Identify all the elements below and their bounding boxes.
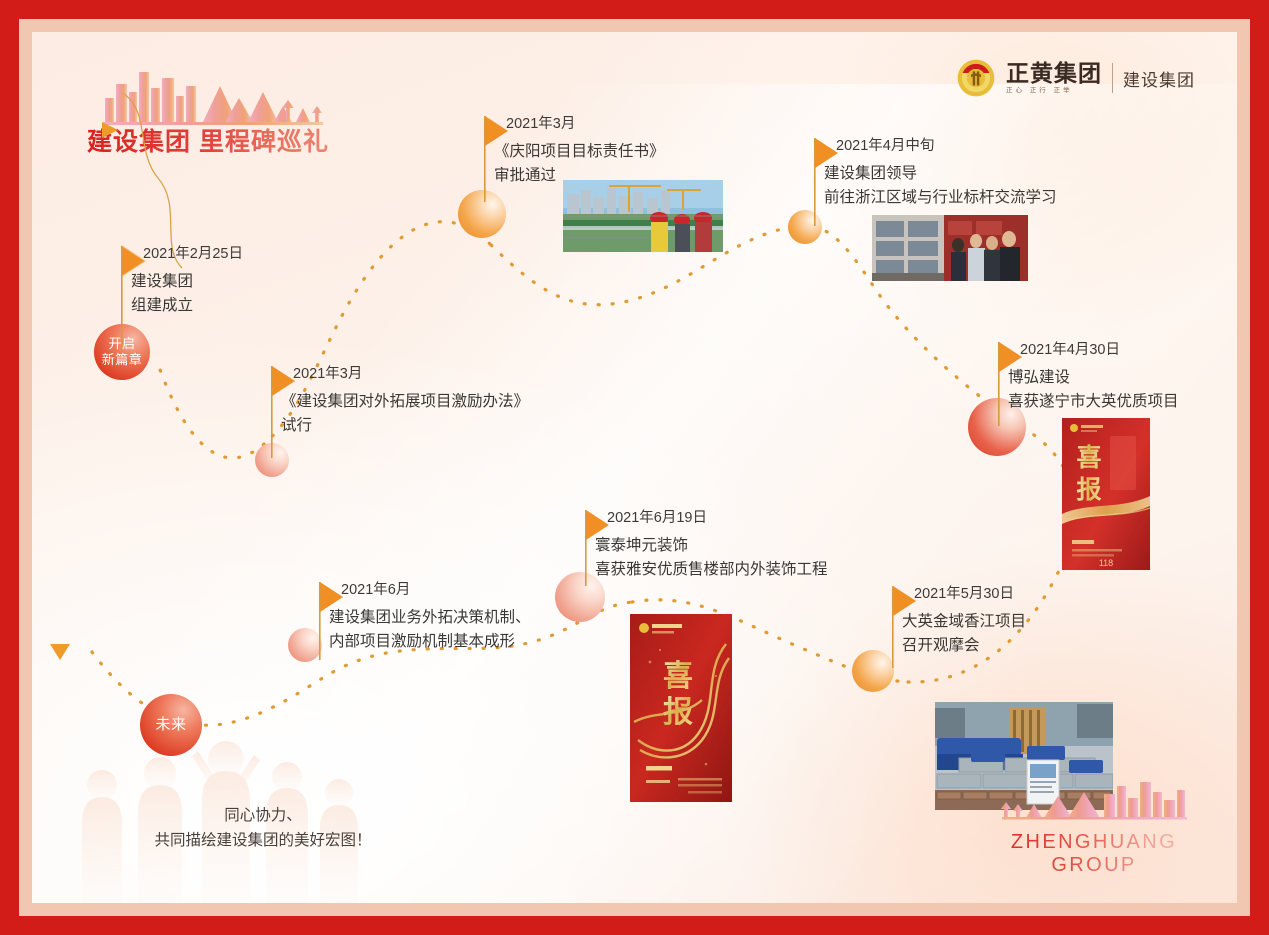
badge-line-2: 新篇章 <box>102 352 143 368</box>
milestone-line: 组建成立 <box>131 294 193 318</box>
milestone-line: 建设集团 <box>131 270 193 294</box>
logo-divider <box>1112 63 1113 93</box>
node-badge-future: 未来 <box>140 694 202 756</box>
milestone-line: 喜获遂宁市大英优质项目 <box>1008 390 1179 414</box>
title-arrow-icon <box>100 120 122 140</box>
milestone-body: 《建设集团对外拓展项目激励办法》 试行 <box>281 390 529 438</box>
start-arrow-icon <box>48 642 74 664</box>
seal-icon <box>956 58 996 98</box>
milestone-line: 前往浙江区域与行业标杆交流学习 <box>824 186 1057 210</box>
milestone-line: 《建设集团对外拓展项目激励办法》 <box>281 390 529 414</box>
milestone-date: 2021年2月25日 <box>143 242 243 263</box>
milestone-line: 喜获雅安优质售楼部内外装饰工程 <box>595 558 828 582</box>
photo-xibao-gold-poster: 喜 报 <box>630 614 732 802</box>
page-title: 建设集团 里程碑巡礼 <box>87 122 387 158</box>
svg-text:报: 报 <box>1076 476 1101 504</box>
milestone-line: 试行 <box>281 414 529 438</box>
milestone-date: 2021年4月中旬 <box>836 134 934 155</box>
crowd-silhouette <box>52 673 392 903</box>
photo-exhibition-hall-visit <box>872 215 1028 281</box>
milestone-date: 2021年3月 <box>293 362 362 383</box>
milestone-line: 内部项目激励机制基本成形 <box>329 630 531 654</box>
milestone-date: 2021年5月30日 <box>914 582 1014 603</box>
skyline-footer-icon <box>992 778 1197 824</box>
photo-construction-site-observation <box>563 180 723 252</box>
future-line-1: 同心协力、 <box>128 804 398 829</box>
milestone-date: 2021年6月 <box>341 578 410 599</box>
milestone-line: 博弘建设 <box>1008 366 1179 390</box>
logo-text: 正黄集团 正心 正行 正举 <box>1006 62 1102 95</box>
svg-text:喜: 喜 <box>1076 444 1101 472</box>
logo-company-name: 正黄集团 <box>1006 62 1102 85</box>
milestone-body: 大英金域香江项目 召开观摩会 <box>902 610 1026 658</box>
milestone-date: 2021年6月19日 <box>607 506 707 527</box>
photo-xibao-red-poster: 喜 报 118 <box>1062 418 1150 570</box>
svg-text:喜: 喜 <box>663 660 693 693</box>
milestone-line: 建设集团领导 <box>824 162 1057 186</box>
milestone-date: 2021年3月 <box>506 112 575 133</box>
milestone-line: 建设集团业务外拓决策机制、 <box>329 606 531 630</box>
milestone-line: 《庆阳项目目标责任书》 <box>494 140 665 164</box>
brand-name: ZHENGHUANG GROUP <box>989 831 1199 877</box>
milestone-line: 大英金域香江项目 <box>902 610 1026 634</box>
milestone-date: 2021年4月30日 <box>1020 338 1120 359</box>
company-logo: 正黄集团 正心 正行 正举 建设集团 <box>956 58 1195 98</box>
milestone-line: 召开观摩会 <box>902 634 1026 658</box>
milestone-body: 建设集团 组建成立 <box>131 270 193 318</box>
milestone-body: 寰泰坤元装饰 喜获雅安优质售楼部内外装饰工程 <box>595 534 828 582</box>
svg-text:报: 报 <box>663 696 693 729</box>
logo-business-unit: 建设集团 <box>1123 66 1195 91</box>
future-line-2: 共同描绘建设集团的美好宏图！ <box>128 829 398 854</box>
poster-stage: 建设集团 里程碑巡礼 正黄集团 正心 正行 正举 建设集团 <box>32 32 1237 903</box>
future-caption: 同心协力、 共同描绘建设集团的美好宏图！ <box>128 804 398 854</box>
title-block: 建设集团 里程碑巡礼 <box>87 62 387 158</box>
milestone-body: 博弘建设 喜获遂宁市大英优质项目 <box>1008 366 1179 414</box>
logo-slogan: 正心 正行 正举 <box>1006 88 1102 95</box>
brand-footer: ZHENGHUANG GROUP <box>989 778 1199 877</box>
skyline-icon <box>87 62 337 128</box>
svg-text:118: 118 <box>1099 558 1113 568</box>
future-badge-label: 未来 <box>155 716 186 735</box>
milestone-body: 建设集团业务外拓决策机制、 内部项目激励机制基本成形 <box>329 606 531 654</box>
milestone-body: 建设集团领导 前往浙江区域与行业标杆交流学习 <box>824 162 1057 210</box>
milestone-line: 寰泰坤元装饰 <box>595 534 828 558</box>
poster-root: 建设集团 里程碑巡礼 正黄集团 正心 正行 正举 建设集团 <box>0 0 1269 935</box>
